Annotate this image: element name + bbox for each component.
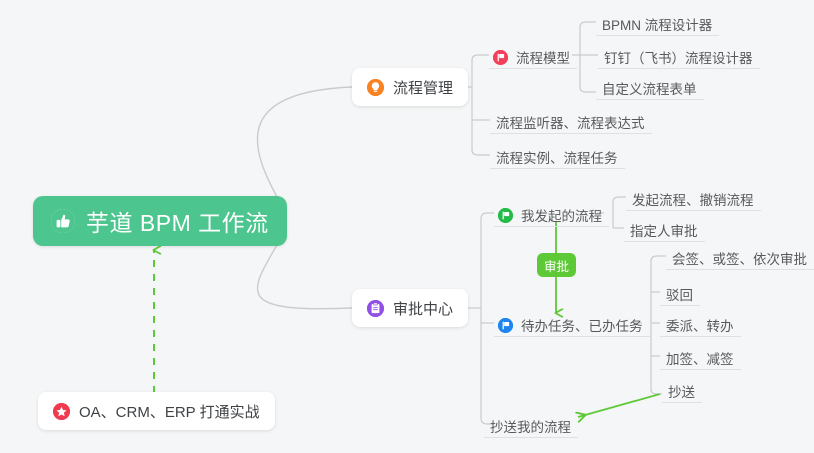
flag-icon [493,50,508,65]
node-custom-process-form-label: 自定义流程表单 [602,83,697,97]
root-node[interactable]: 芋道 BPM 工作流 [33,196,287,246]
lightbulb-icon [367,79,384,96]
flag-icon [498,318,513,333]
node-custom-process-form[interactable]: 自定义流程表单 [596,73,704,100]
node-listener-expression[interactable]: 流程监听器、流程表达式 [490,107,652,134]
mindmap-canvas: 芋道 BPM 工作流 流程管理 流程模型 BPMN 流程设计器 钉钉（飞书）流程… [0,0,814,453]
connector-to-custom-form [580,87,596,92]
star-icon [53,403,70,420]
node-todo-done-tasks-label: 待办任务、已办任务 [521,320,643,334]
node-add-remove-sign-label: 加签、减签 [666,353,734,367]
branch-node-approval-center[interactable]: 审批中心 [352,289,468,327]
connector-to-cc [651,389,662,394]
root-node-label: 芋道 BPM 工作流 [86,204,269,238]
node-countersign-label: 会签、或签、依次审批 [672,253,807,267]
node-cc[interactable]: 抄送 [662,376,702,403]
node-dingtalk-feishu-designer-label: 钉钉（飞书）流程设计器 [604,52,753,66]
branch-node-process-management[interactable]: 流程管理 [352,68,468,106]
node-bpmn-designer-label: BPMN 流程设计器 [602,19,712,33]
arrow-cc-flow [578,394,660,417]
node-assignee-approval[interactable]: 指定人审批 [624,215,705,242]
node-instance-task-label: 流程实例、流程任务 [496,152,618,166]
connector-to-start-cancel [613,197,626,202]
flag-icon [498,208,513,223]
node-reject-label: 驳回 [666,289,693,303]
connector-root-to-approval-center [257,238,352,309]
node-start-cancel-process-label: 发起流程、撤销流程 [632,194,754,208]
approval-flow-tag: 审批 [537,253,576,277]
node-dingtalk-feishu-designer[interactable]: 钉钉（飞书）流程设计器 [598,42,760,69]
integration-note-node[interactable]: OA、CRM、ERP 打通实战 [38,392,275,430]
integration-note-label: OA、CRM、ERP 打通实战 [79,401,260,422]
node-process-model-label: 流程模型 [516,52,570,66]
node-start-cancel-process[interactable]: 发起流程、撤销流程 [626,184,761,211]
node-listener-expression-label: 流程监听器、流程表达式 [496,117,645,131]
approval-flow-tag-label: 审批 [544,256,569,275]
node-cc-to-me-process-label: 抄送我的流程 [490,421,571,435]
connector-to-process-model [472,55,489,60]
node-cc-to-me-process[interactable]: 抄送我的流程 [484,411,578,438]
connector-to-countersign [651,256,666,261]
node-assignee-approval-label: 指定人审批 [630,225,698,239]
connector-to-instance-task [472,150,490,155]
thumbs-up-icon [51,209,75,233]
node-instance-task[interactable]: 流程实例、流程任务 [490,142,625,169]
clipboard-icon [367,300,384,317]
node-bpmn-designer[interactable]: BPMN 流程设计器 [596,9,719,36]
node-my-started-process[interactable]: 我发起的流程 [494,200,609,227]
node-add-remove-sign[interactable]: 加签、减签 [660,343,741,370]
branch-node-approval-center-label: 审批中心 [393,298,453,319]
branch-node-process-management-label: 流程管理 [393,77,453,98]
connector-to-bpmn-designer [580,22,596,27]
node-delegate-transfer-label: 委派、转办 [666,320,734,334]
node-countersign[interactable]: 会签、或签、依次审批 [666,243,814,270]
node-cc-label: 抄送 [668,386,695,400]
connector-root-to-process-management [257,87,352,204]
connector-to-my-started-process [481,213,494,219]
node-my-started-process-label: 我发起的流程 [521,210,602,224]
node-todo-done-tasks[interactable]: 待办任务、已办任务 [494,310,650,337]
node-process-model[interactable]: 流程模型 [489,42,577,69]
node-reject[interactable]: 驳回 [660,279,700,306]
node-delegate-transfer[interactable]: 委派、转办 [660,310,741,337]
